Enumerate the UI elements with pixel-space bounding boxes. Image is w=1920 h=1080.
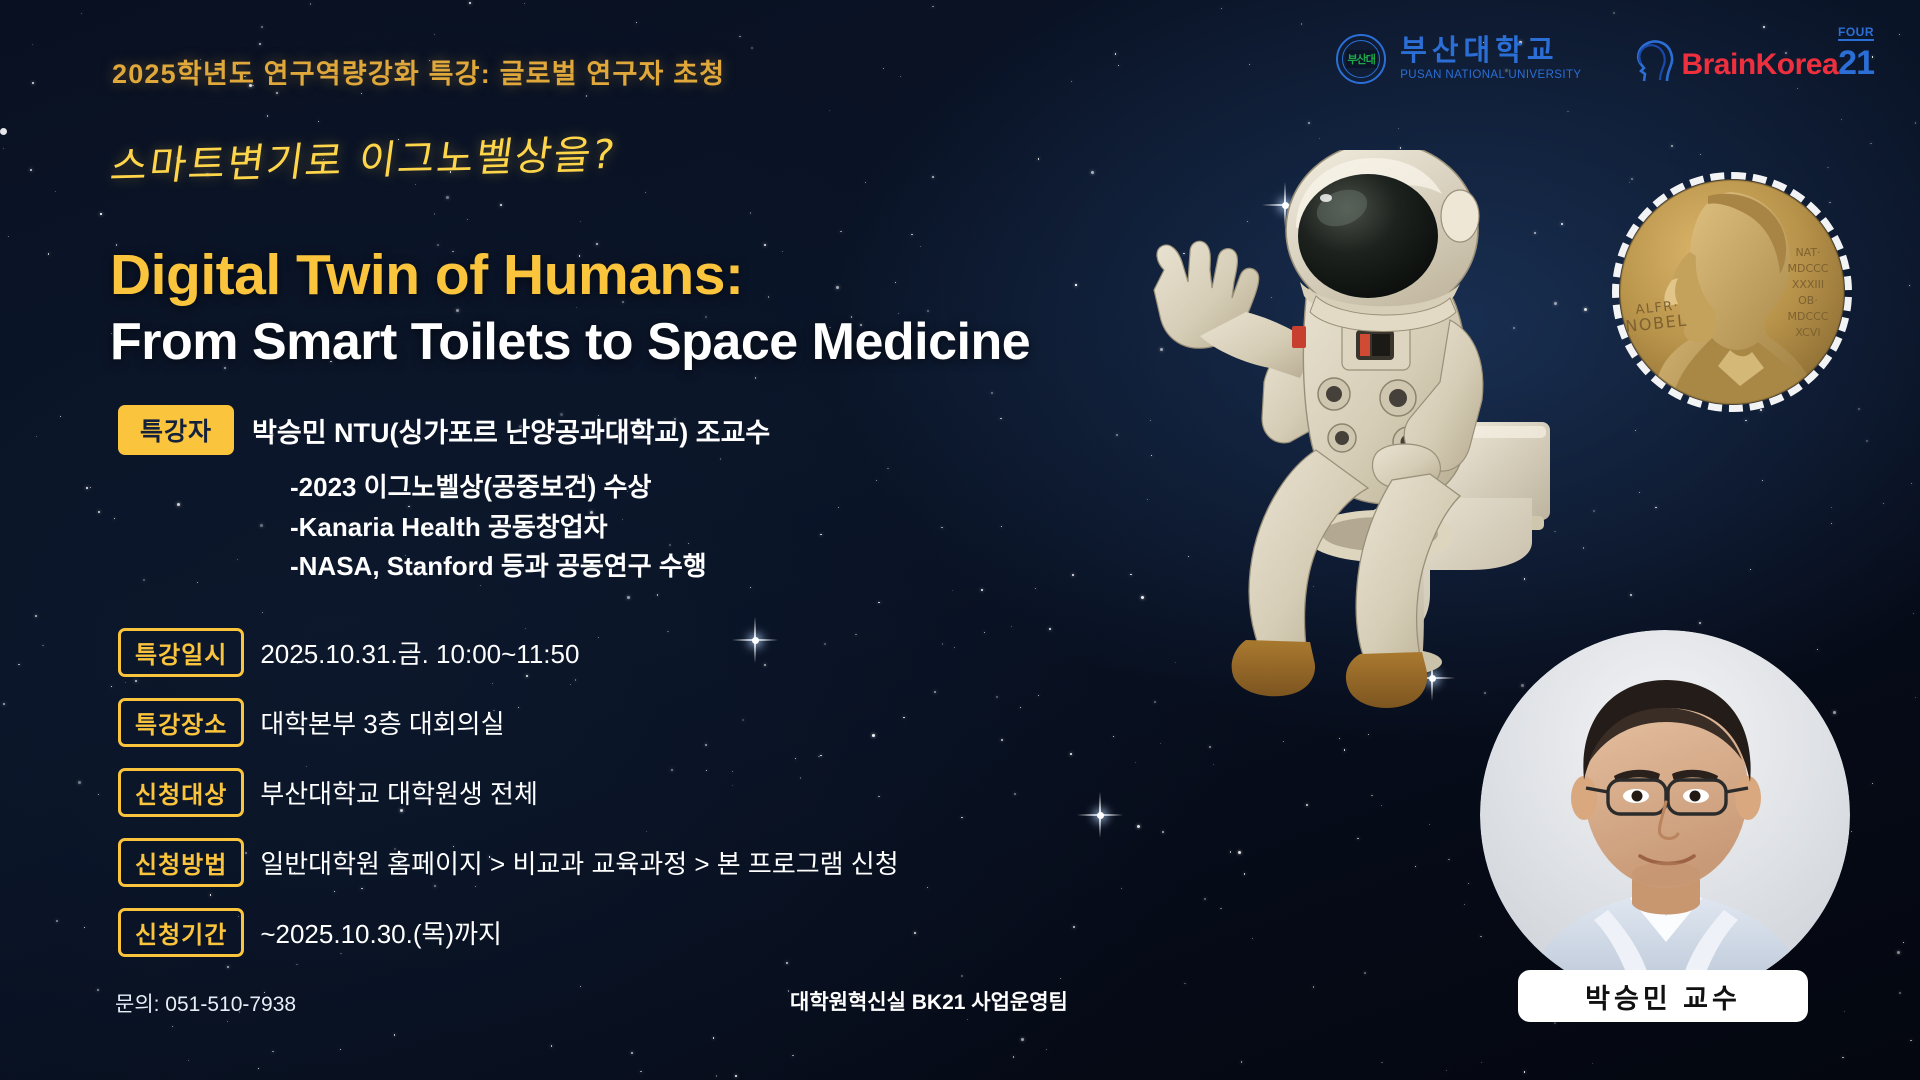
helmet xyxy=(1286,150,1479,319)
speaker-name: 박승민 NTU(싱가포르 난양공과대학교) 조교수 xyxy=(252,411,770,450)
professor-photo xyxy=(1480,630,1850,1000)
info-table: 특강일시 2025.10.31.금. 10:00~11:50 특강장소 대학본부… xyxy=(118,628,899,957)
medal-connector-dots xyxy=(0,128,10,148)
speaker-credentials: -2023 이그노벨상(공중보건) 수상 -Kanaria Health 공동창… xyxy=(290,468,707,587)
info-label: 특강일시 xyxy=(118,628,244,677)
organizer-team: 대학원혁신실 BK21 사업운영팀 xyxy=(790,986,1068,1016)
brain-head-icon xyxy=(1633,38,1679,82)
info-row-howto: 신청방법 일반대학원 홈페이지 > 비교과 교육과정 > 본 프로그램 신청 xyxy=(118,838,899,887)
speaker-row: 특강자 박승민 NTU(싱가포르 난양공과대학교) 조교수 xyxy=(118,405,770,455)
info-row-audience: 신청대상 부산대학교 대학원생 전체 xyxy=(118,768,899,817)
info-value: 일반대학원 홈페이지 > 비교과 교육과정 > 본 프로그램 신청 xyxy=(260,844,898,881)
contact-info: 문의: 051-510-7938 xyxy=(115,988,296,1018)
info-row-venue: 특강장소 대학본부 3층 대회의실 xyxy=(118,698,899,747)
main-title-line2: From Smart Toilets to Space Medicine xyxy=(110,312,1030,372)
main-title-line1: Digital Twin of Humans: xyxy=(110,242,743,308)
logo-group: 부산대 부산대학교 PUSAN NATIONAL UNIVERSITY Brai… xyxy=(1336,34,1874,84)
brainkorea-four-label: FOUR xyxy=(1838,26,1874,41)
pnu-logo-korean: 부산대학교 xyxy=(1400,37,1581,66)
pnu-seal-text: 부산대 xyxy=(1346,50,1377,68)
medal-dashed-ring xyxy=(1612,172,1852,412)
header-title: 2025학년도 연구역량강화 특강: 글로벌 연구자 초청 xyxy=(112,52,725,91)
brainkorea21-logo: BrainKorea 21 FOUR xyxy=(1633,38,1874,80)
pnu-logo: 부산대 부산대학교 PUSAN NATIONAL UNIVERSITY xyxy=(1336,34,1581,84)
info-label: 특강장소 xyxy=(118,698,244,747)
info-row-period: 신청기간 ~2025.10.30.(목)까지 xyxy=(118,908,899,957)
brainkorea-number: 21 xyxy=(1838,46,1874,80)
handwritten-subtitle: 스마트변기로 이그노벨상을? xyxy=(107,122,620,192)
info-row-datetime: 특강일시 2025.10.31.금. 10:00~11:50 xyxy=(118,628,899,677)
nobel-medal: ALFR· NOBEL NAT· MDCCC XXXIII OB· MDCCC … xyxy=(1612,172,1852,412)
info-label: 신청기간 xyxy=(118,908,244,957)
info-value: 부산대학교 대학원생 전체 xyxy=(260,774,538,811)
professor-nameplate: 박승민 교수 xyxy=(1518,970,1808,1022)
poster-root: 2025학년도 연구역량강화 특강: 글로벌 연구자 초청 부산대 부산대학교 … xyxy=(0,0,1920,1080)
list-item: -Kanaria Health 공동창업자 xyxy=(290,508,707,548)
info-value: 대학본부 3층 대회의실 xyxy=(260,704,504,741)
info-label: 신청방법 xyxy=(118,838,244,887)
pnu-logo-english: PUSAN NATIONAL UNIVERSITY xyxy=(1400,70,1581,82)
professor-name: 박승민 교수 xyxy=(1585,977,1741,1016)
info-label: 신청대상 xyxy=(118,768,244,817)
info-value: 2025.10.31.금. 10:00~11:50 xyxy=(260,634,579,671)
brainkorea-wordmark: BrainKorea xyxy=(1681,50,1838,80)
pnu-seal-icon: 부산대 xyxy=(1336,34,1386,84)
list-item: -NASA, Stanford 등과 공동연구 수행 xyxy=(290,547,707,587)
speaker-badge: 특강자 xyxy=(118,405,234,455)
list-item: -2023 이그노벨상(공중보건) 수상 xyxy=(290,468,707,508)
info-value: ~2025.10.30.(목)까지 xyxy=(260,914,502,951)
astronaut-on-toilet-illustration xyxy=(1130,150,1580,730)
